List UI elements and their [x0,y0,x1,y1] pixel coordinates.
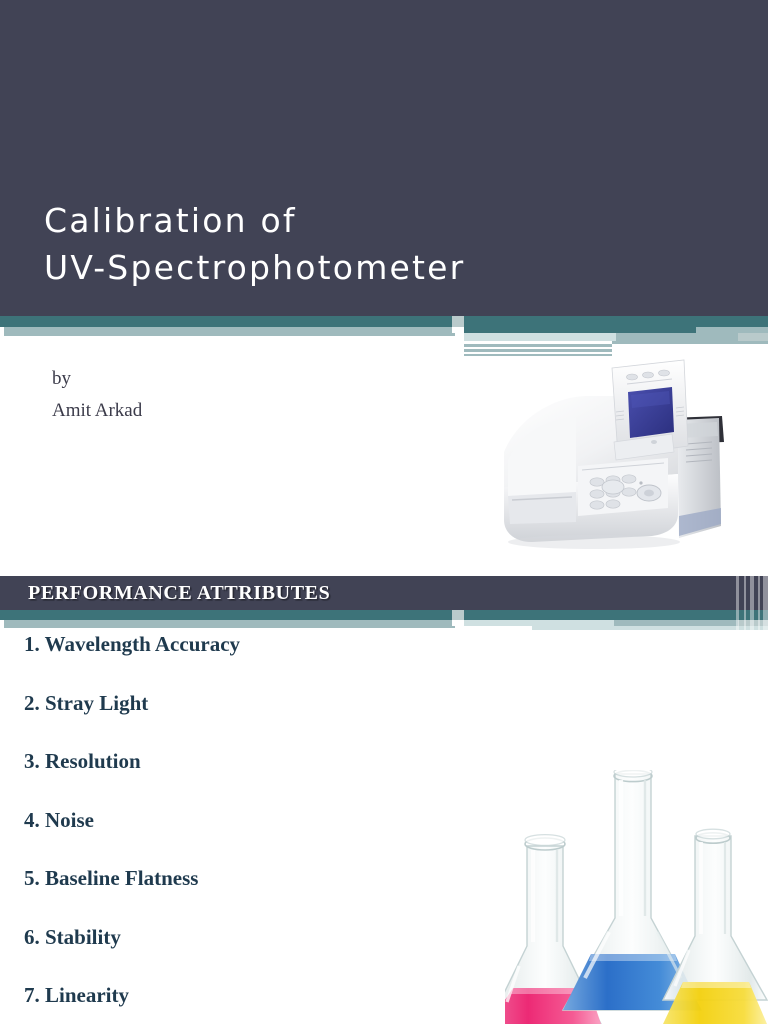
section-heading: PERFORMANCE ATTRIBUTES [28,582,330,605]
presentation-page: Calibration of UV-Spectrophotometer by A… [0,0,768,1024]
author-name: Amit Arkad [52,400,142,422]
volumetric-flasks-photo [505,770,768,1024]
byline-label: by [52,368,71,390]
performance-attributes-list: 1. Wavelength Accuracy 2. Stray Light 3.… [24,632,494,1024]
title-divider-light-band [0,327,455,336]
list-item: 3. Resolution [24,749,494,774]
list-item: 1. Wavelength Accuracy [24,632,494,657]
list-item: 7. Linearity [24,983,494,1008]
uv-spectrophotometer-photo [472,356,754,568]
list-item: 6. Stability [24,925,494,950]
slide-performance-attributes: PERFORMANCE ATTRIBUTES 1. Wavelength Acc… [0,574,768,1024]
section-vertical-stripes [736,574,768,634]
list-item: 5. Baseline Flatness [24,866,494,891]
list-item: 4. Noise [24,808,494,833]
page-title: Calibration of UV-Spectrophotometer [44,198,704,292]
title-decorative-stripes [452,316,768,361]
title-divider-notch [0,327,4,336]
list-item: 2. Stray Light [24,691,494,716]
section-decorative-stripes [452,610,768,634]
section-divider-notch [0,620,4,628]
slide-title: Calibration of UV-Spectrophotometer by A… [0,0,768,574]
section-divider-light-band [0,620,455,628]
